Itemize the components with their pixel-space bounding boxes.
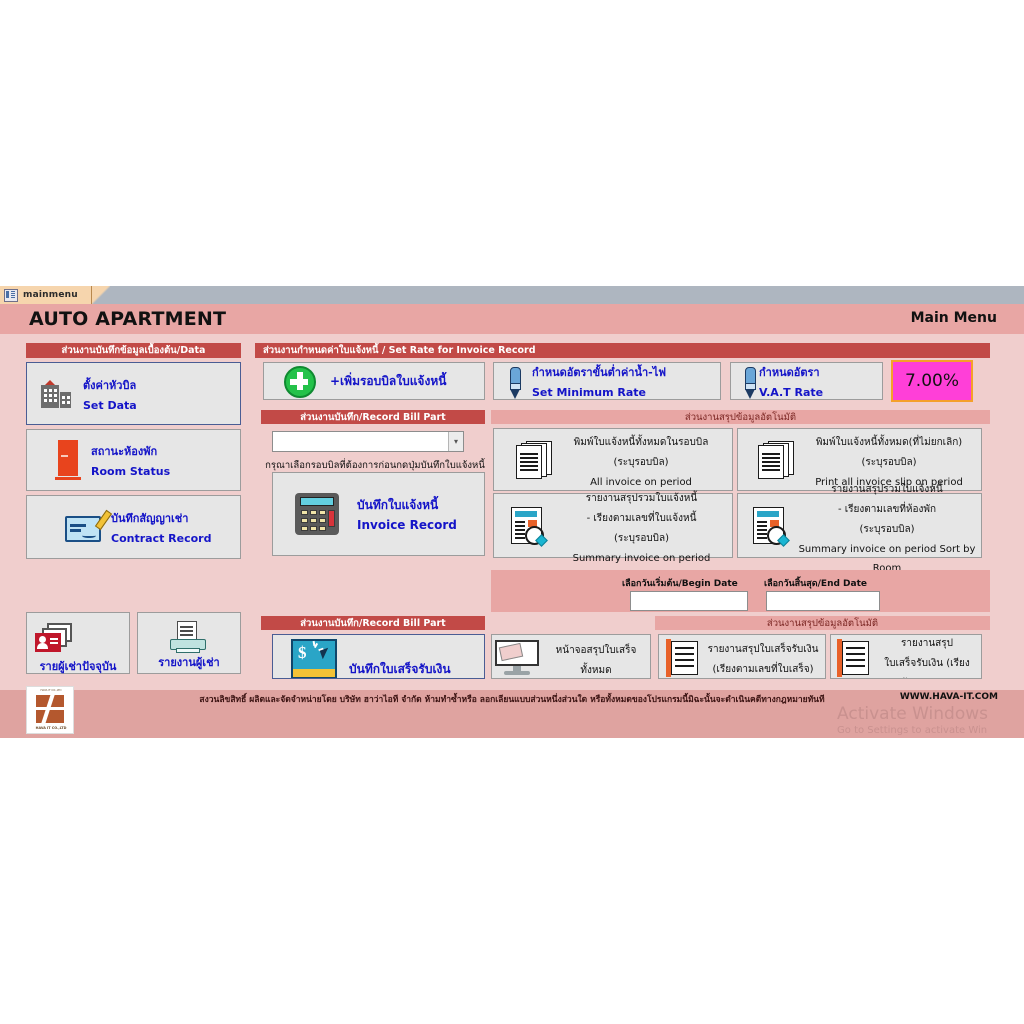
website-url: WWW.HAVA-IT.COM bbox=[900, 692, 998, 702]
room-status-button[interactable]: สถานะห้องพัก Room Status bbox=[26, 429, 241, 491]
watermark-subtitle: Go to Settings to activate Win bbox=[837, 724, 988, 738]
invoice-record-th: บันทึกใบแจ้งหนี้ bbox=[357, 498, 438, 512]
room-status-en: Room Status bbox=[91, 465, 170, 478]
summary-invoice-button[interactable]: รายงานสรุปรวมใบแจ้งหนี้ - เรียงตามเลขที่… bbox=[493, 493, 733, 558]
red-report-icon bbox=[837, 639, 871, 677]
main-menu-label: Main Menu bbox=[911, 310, 997, 326]
cheque-pen-icon bbox=[65, 510, 107, 544]
pen-icon bbox=[743, 367, 759, 399]
contract-record-en: Contract Record bbox=[111, 532, 211, 545]
building-icon bbox=[39, 380, 73, 408]
summary-room-line1: รายงานสรุปรวมใบแจ้งหนี้ bbox=[831, 484, 942, 495]
receipt-screen-line1: หน้าจอสรุปใบเสร็จทั้งหมด bbox=[556, 645, 637, 676]
summary-room-line2: - เรียงตามเลขที่ห้องพัก bbox=[838, 504, 936, 515]
set-data-en: Set Data bbox=[83, 399, 137, 412]
receipt-summary-by-room-button[interactable]: รายงานสรุป ใบเสร็จรับเงิน (เรียง ตามห้อง… bbox=[830, 634, 982, 679]
logo-caption: HAVA IT CO.,LTD bbox=[29, 726, 73, 730]
monitor-icon bbox=[495, 640, 539, 676]
contract-record-button[interactable]: บันทึกสัญญาเช่า Contract Record bbox=[26, 495, 241, 559]
set-minimum-rate-th: กำหนดอัตราขั้นต่ำค่าน้ำ-ไฟ bbox=[532, 366, 666, 379]
summary-invoice-line2: - เรียงตามเลขที่ใบแจ้งหนี้ bbox=[587, 513, 697, 524]
vat-value-field[interactable]: 7.00% bbox=[891, 360, 973, 402]
add-bill-cycle-button[interactable]: +เพิ่มรอบบิลใบแจ้งหนี้ bbox=[263, 362, 485, 400]
receipt-section-header: ส่วนงานบันทึก/Record Bill Part bbox=[261, 616, 485, 630]
set-minimum-rate-en: Set Minimum Rate bbox=[532, 386, 646, 399]
door-icon bbox=[55, 440, 81, 482]
tab-strip: mainmenu bbox=[0, 286, 1024, 304]
print-all-invoice-line2: (ระบุรอบบิล) bbox=[613, 457, 668, 468]
bill-cycle-hint: กรุณาเลือกรอบบิลที่ต้องการก่อนกดปุ่มบันท… bbox=[261, 458, 489, 473]
tenant-report-label: รายงานผู้เช่า bbox=[138, 656, 240, 669]
begin-date-input[interactable] bbox=[630, 591, 748, 611]
report-magnifier-icon bbox=[511, 507, 553, 545]
print-all-slip-line2: (ระบุรอบบิล) bbox=[861, 457, 916, 468]
tab-mainmenu[interactable]: mainmenu bbox=[0, 286, 92, 304]
summary-invoice-by-room-button[interactable]: รายงานสรุปรวมใบแจ้งหนี้ - เรียงตามเลขที่… bbox=[737, 493, 982, 558]
end-date-label: เลือกวันสิ้นสุด/End Date bbox=[764, 576, 867, 590]
plus-circle-icon bbox=[284, 366, 316, 398]
bill-cycle-combobox[interactable]: ▾ bbox=[272, 431, 464, 452]
report-magnifier-icon bbox=[753, 507, 795, 545]
receipt-screen-summary-button[interactable]: หน้าจอสรุปใบเสร็จทั้งหมด ระบุช่วงวันที่ต… bbox=[491, 634, 651, 679]
vat-rate-th: กำหนดอัตรา bbox=[759, 366, 820, 379]
watermark-title: Activate Windows bbox=[837, 704, 988, 724]
contract-record-th: บันทึกสัญญาเช่า bbox=[111, 512, 188, 525]
record-receipt-button[interactable]: $ บันทึกใบเสร็จรับเงิน bbox=[272, 634, 485, 679]
summary-room-en: Summary invoice on period Sort by Room bbox=[799, 544, 976, 574]
rate-section-header: ส่วนงานกำหนดค่าใบแจ้งหนี้ / Set Rate for… bbox=[255, 343, 990, 358]
current-tenants-button[interactable]: รายผู้เช่าปัจจุบัน bbox=[26, 612, 130, 674]
money-click-icon: $ bbox=[291, 639, 337, 679]
record-bill-part-header: ส่วนงานบันทึก/Record Bill Part bbox=[261, 410, 485, 424]
printer-icon bbox=[170, 621, 206, 653]
summary-room-line3: (ระบุรอบบิล) bbox=[859, 524, 914, 535]
invoice-record-en: Invoice Record bbox=[357, 518, 457, 532]
logo-bar bbox=[36, 707, 64, 710]
receipt-room-line3: ตามห้องพัก) ระบุช่วง bbox=[882, 678, 972, 680]
print-all-invoice-button[interactable]: พิมพ์ใบแจ้งหนี้ทั้งหมดในรอบบิล (ระบุรอบบ… bbox=[493, 428, 733, 491]
receipt-room-line2: ใบเสร็จรับเงิน (เรียง bbox=[884, 658, 969, 669]
stacked-documents-icon bbox=[758, 441, 800, 479]
application-window: mainmenu AUTO APARTMENT Main Menu ส่วนงา… bbox=[0, 286, 1024, 738]
page-title: AUTO APARTMENT bbox=[29, 308, 226, 330]
set-data-button[interactable]: ตั้งค่าหัวบิล Set Data bbox=[26, 362, 241, 425]
tab-slant bbox=[92, 286, 110, 304]
form-icon bbox=[4, 289, 18, 302]
auto-summary-header: ส่วนงานสรุปข้อมูลอัตโนมัติ bbox=[491, 410, 990, 424]
add-bill-cycle-label: +เพิ่มรอบบิลใบแจ้งหนี้ bbox=[330, 374, 446, 389]
tenant-report-button[interactable]: รายงานผู้เช่า bbox=[137, 612, 241, 674]
receipt-number-line1: รายงานสรุปใบเสร็จรับเงิน bbox=[708, 644, 819, 655]
left-panel-header: ส่วนงานบันทึกข้อมูลเบื้องต้น/Data bbox=[26, 343, 241, 358]
vat-rate-button[interactable]: กำหนดอัตรา V.A.T Rate bbox=[730, 362, 883, 400]
id-cards-icon bbox=[35, 623, 73, 653]
room-status-th: สถานะห้องพัก bbox=[91, 445, 157, 458]
tab-mainmenu-label: mainmenu bbox=[23, 290, 78, 300]
print-all-invoice-line1: พิมพ์ใบแจ้งหนี้ทั้งหมดในรอบบิล bbox=[574, 437, 709, 448]
red-report-icon bbox=[666, 639, 700, 677]
receipt-summary-by-number-button[interactable]: รายงานสรุปใบเสร็จรับเงิน (เรียงตามเลขที่… bbox=[658, 634, 826, 679]
pen-icon bbox=[508, 367, 524, 399]
vat-rate-en: V.A.T Rate bbox=[759, 386, 823, 399]
summary-invoice-en: Summary invoice on period bbox=[573, 553, 711, 564]
stacked-documents-icon bbox=[516, 441, 558, 479]
set-data-th: ตั้งค่าหัวบิล bbox=[83, 379, 136, 392]
receipt-room-line1: รายงานสรุป bbox=[901, 638, 953, 649]
chevron-down-icon[interactable]: ▾ bbox=[448, 432, 463, 451]
activate-windows-watermark: Activate Windows Go to Settings to activ… bbox=[837, 704, 988, 738]
begin-date-label: เลือกวันเริ่มต้น/Begin Date bbox=[622, 576, 738, 590]
set-minimum-rate-button[interactable]: กำหนดอัตราขั้นต่ำค่าน้ำ-ไฟ Set Minimum R… bbox=[493, 362, 721, 400]
calculator-icon bbox=[295, 493, 339, 535]
print-all-slip-line1: พิมพ์ใบแจ้งหนี้ทั้งหมด(ที่ไม่ยกเลิก) bbox=[816, 437, 962, 448]
record-receipt-label: บันทึกใบเสร็จรับเงิน bbox=[349, 662, 451, 677]
receipt-number-line2: (เรียงตามเลขที่ใบเสร็จ) ระบุ bbox=[713, 664, 814, 680]
summary-invoice-line3: (ระบุรอบบิล) bbox=[614, 533, 669, 544]
current-tenants-label: รายผู้เช่าปัจจุบัน bbox=[27, 660, 129, 673]
summary-invoice-line1: รายงานสรุปรวมใบแจ้งหนี้ bbox=[586, 493, 697, 504]
receipt-summary-header: ส่วนงานสรุปข้อมูลอัตโนมัติ bbox=[655, 616, 990, 630]
invoice-record-button[interactable]: บันทึกใบแจ้งหนี้ Invoice Record bbox=[272, 472, 485, 556]
end-date-input[interactable] bbox=[766, 591, 880, 611]
